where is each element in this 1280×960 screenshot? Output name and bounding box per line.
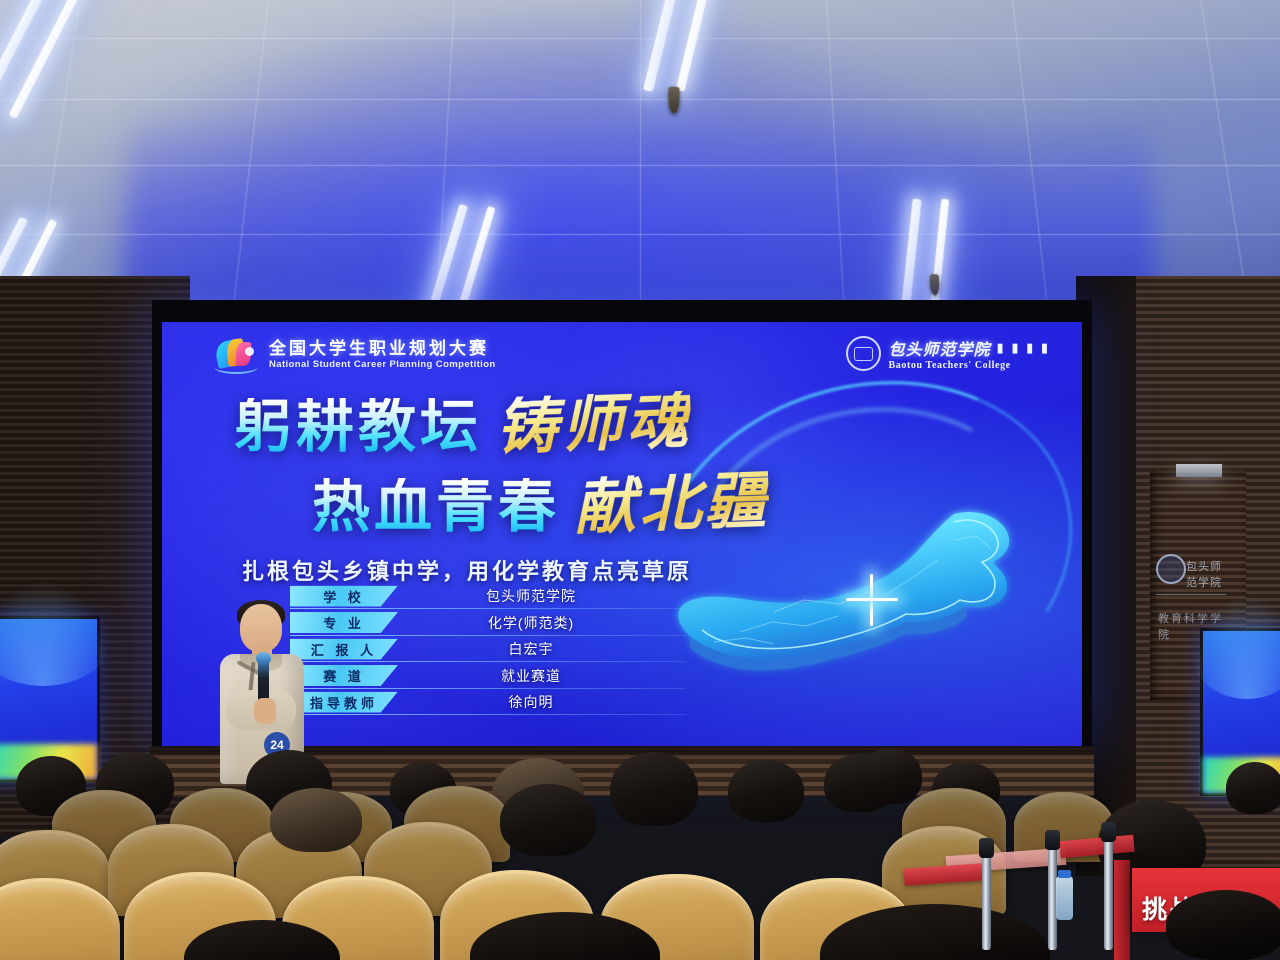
competition-logo: 全国大学生职业规划大赛 National Student Career Plan… — [214, 338, 496, 372]
college-emblem-icon — [846, 336, 881, 371]
headline-line1-blue: 躬耕教坛 — [234, 398, 482, 456]
screen-subtitle: 扎根包头乡镇中学，用化学教育点亮草原 — [242, 554, 692, 586]
audience-head — [1226, 762, 1280, 814]
info-table: 学 校 包头师范学院 专 业 化学(师范类) 汇 报 人 白宏宇 赛 道 就业赛… — [290, 584, 686, 717]
info-value: 包头师范学院 — [398, 586, 686, 606]
college-name-en: Baotou Teachers' College — [889, 360, 1050, 371]
audience-head-foreground — [1166, 890, 1280, 960]
info-label: 专 业 — [323, 613, 365, 632]
competition-title-cn: 全国大学生职业规划大赛 — [269, 340, 496, 358]
audience-head — [270, 788, 362, 852]
stanchion-head — [1045, 830, 1060, 850]
audience-head — [728, 760, 804, 822]
info-label: 赛 道 — [323, 666, 365, 685]
college-logo-dots: ▮ ▮ ▮ ▮ — [997, 340, 1050, 356]
table-row: 学 校 包头师范学院 — [290, 584, 686, 608]
info-label: 指导教师 — [310, 693, 378, 712]
inner-mongolia-3d-map — [632, 422, 1062, 722]
water-bottle — [1056, 876, 1073, 920]
info-label: 汇 报 人 — [311, 640, 377, 659]
headline-line2-blue: 热血青春 — [312, 478, 560, 536]
recessed-downlight-icon — [1176, 464, 1222, 477]
screenshot-root: 包头师范学院 教育科学学院 全国大学生职业规划大赛 National Stude… — [0, 0, 1280, 960]
banner-post — [1114, 860, 1130, 960]
ceiling-panel-grid — [0, 0, 1280, 321]
audience-head — [610, 752, 698, 826]
plaque-emblem-icon — [1156, 554, 1186, 584]
info-value: 白宏宇 — [398, 639, 686, 659]
info-label: 学 校 — [323, 587, 365, 606]
table-row: 指导教师 徐向明 — [290, 690, 686, 714]
stanchion-head — [979, 838, 994, 858]
audience-head — [860, 748, 922, 804]
table-row: 专 业 化学(师范类) — [290, 611, 686, 635]
headline-line2-gold: 献北疆 — [573, 471, 770, 540]
competition-title-en: National Student Career Planning Competi… — [269, 359, 496, 370]
stanchion-head — [1101, 822, 1116, 842]
competition-flame-logo-icon — [214, 338, 260, 372]
sprinkler-head-icon — [668, 87, 679, 114]
info-value: 徐向明 — [398, 692, 686, 712]
college-logo: 包头师范学院 ▮ ▮ ▮ ▮ Baotou Teachers' College — [846, 336, 1050, 371]
info-value: 就业赛道 — [398, 666, 686, 686]
stanchion-post — [1104, 830, 1113, 950]
headline-line1-gold: 铸师魂 — [495, 391, 692, 460]
headline-line-2: 热血青春 献北疆 — [162, 474, 1082, 536]
info-value: 化学(师范类) — [398, 613, 686, 633]
presenter-head — [240, 604, 282, 652]
table-row: 汇 报 人 白宏宇 — [290, 637, 686, 661]
headline-line-1: 躬耕教坛 铸师魂 — [162, 394, 1082, 456]
map-sparkle-icon — [846, 574, 898, 626]
plaque-name: 包头师范学院 — [1186, 558, 1230, 590]
audience-head — [500, 784, 596, 856]
presenter-hands — [254, 698, 276, 724]
college-name-cn: 包头师范学院 — [889, 336, 991, 360]
stanchion-post — [982, 846, 991, 950]
table-row: 赛 道 就业赛道 — [290, 664, 686, 688]
sprinkler-head-icon — [930, 274, 940, 295]
